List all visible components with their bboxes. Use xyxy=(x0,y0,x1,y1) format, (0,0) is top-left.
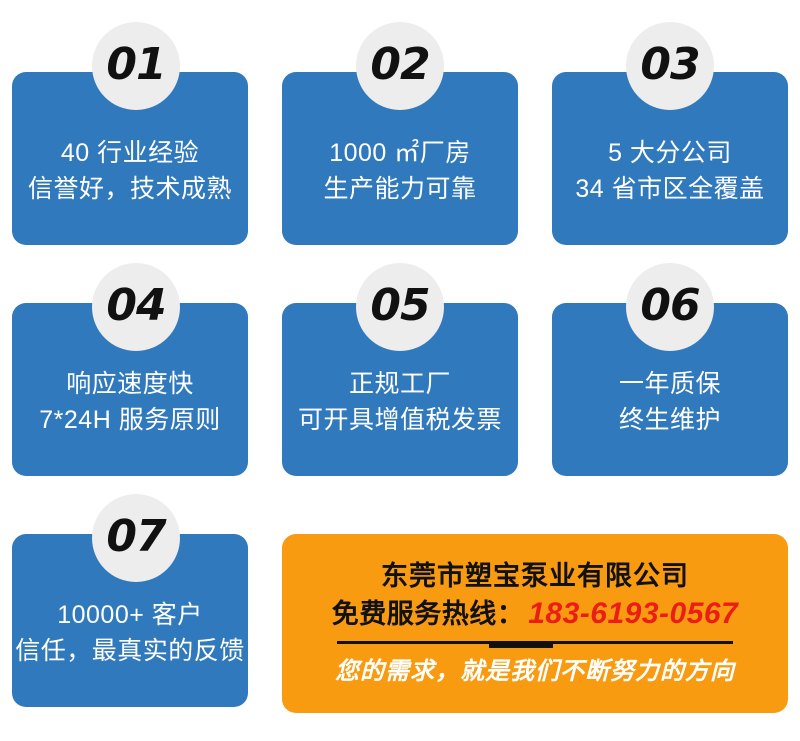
promo-banner: 01 40 行业经验 信誉好，技术成熟 02 1000 ㎡厂房 生产能力可靠 0… xyxy=(0,0,800,741)
divider-accent xyxy=(489,643,553,648)
card-badge-06: 06 xyxy=(626,263,714,351)
card-badge-number: 07 xyxy=(106,515,165,559)
card-badge-01: 01 xyxy=(92,22,180,110)
feature-card-text: 5 大分公司 34 省市区全覆盖 xyxy=(552,117,788,225)
hotline-number[interactable]: 183-6193-0567 xyxy=(528,596,738,632)
feature-card-line-1: 1000 ㎡厂房 xyxy=(329,135,471,171)
card-badge-04: 04 xyxy=(92,263,180,351)
feature-card-line-1: 5 大分公司 xyxy=(608,135,732,171)
feature-card-line-2: 7*24H 服务原则 xyxy=(39,402,220,438)
feature-card-text: 正规工厂 可开具增值税发票 xyxy=(282,348,518,456)
card-badge-number: 06 xyxy=(640,284,699,328)
card-badge-02: 02 xyxy=(356,22,444,110)
feature-card-text: 一年质保 终生维护 xyxy=(552,348,788,456)
feature-card-line-1: 40 行业经验 xyxy=(61,135,199,171)
card-badge-number: 05 xyxy=(370,284,429,328)
divider xyxy=(337,641,733,648)
card-badge-number: 02 xyxy=(370,43,429,87)
card-badge-number: 04 xyxy=(106,284,165,328)
company-name: 东莞市塑宝泵业有限公司 xyxy=(381,558,689,594)
card-badge-number: 01 xyxy=(106,43,165,87)
feature-card-line-2: 信任，最真实的反馈 xyxy=(15,633,245,669)
card-badge-07: 07 xyxy=(92,494,180,582)
tagline: 您的需求，就是我们不断努力的方向 xyxy=(335,656,735,688)
card-badge-number: 03 xyxy=(640,43,699,87)
feature-card-text: 10000+ 客户 信任，最真实的反馈 xyxy=(12,579,248,687)
contact-panel: 东莞市塑宝泵业有限公司 免费服务热线： 183-6193-0567 您的需求，就… xyxy=(282,534,788,713)
feature-card-line-1: 一年质保 xyxy=(619,366,721,402)
feature-card-text: 响应速度快 7*24H 服务原则 xyxy=(12,348,248,456)
feature-card-line-2: 可开具增值税发票 xyxy=(298,402,502,438)
feature-card-line-2: 信誉好，技术成熟 xyxy=(28,171,232,207)
card-badge-03: 03 xyxy=(626,22,714,110)
feature-card-line-1: 10000+ 客户 xyxy=(57,597,203,633)
feature-card-line-1: 响应速度快 xyxy=(66,366,194,402)
feature-card-line-1: 正规工厂 xyxy=(349,366,451,402)
hotline-row: 免费服务热线： 183-6193-0567 xyxy=(332,596,739,632)
hotline-label: 免费服务热线： xyxy=(332,596,525,632)
feature-card-line-2: 终生维护 xyxy=(619,402,721,438)
feature-card-text: 40 行业经验 信誉好，技术成熟 xyxy=(12,117,248,225)
feature-card-text: 1000 ㎡厂房 生产能力可靠 xyxy=(282,117,518,225)
card-badge-05: 05 xyxy=(356,263,444,351)
feature-card-line-2: 34 省市区全覆盖 xyxy=(575,171,764,207)
feature-card-line-2: 生产能力可靠 xyxy=(323,171,476,207)
